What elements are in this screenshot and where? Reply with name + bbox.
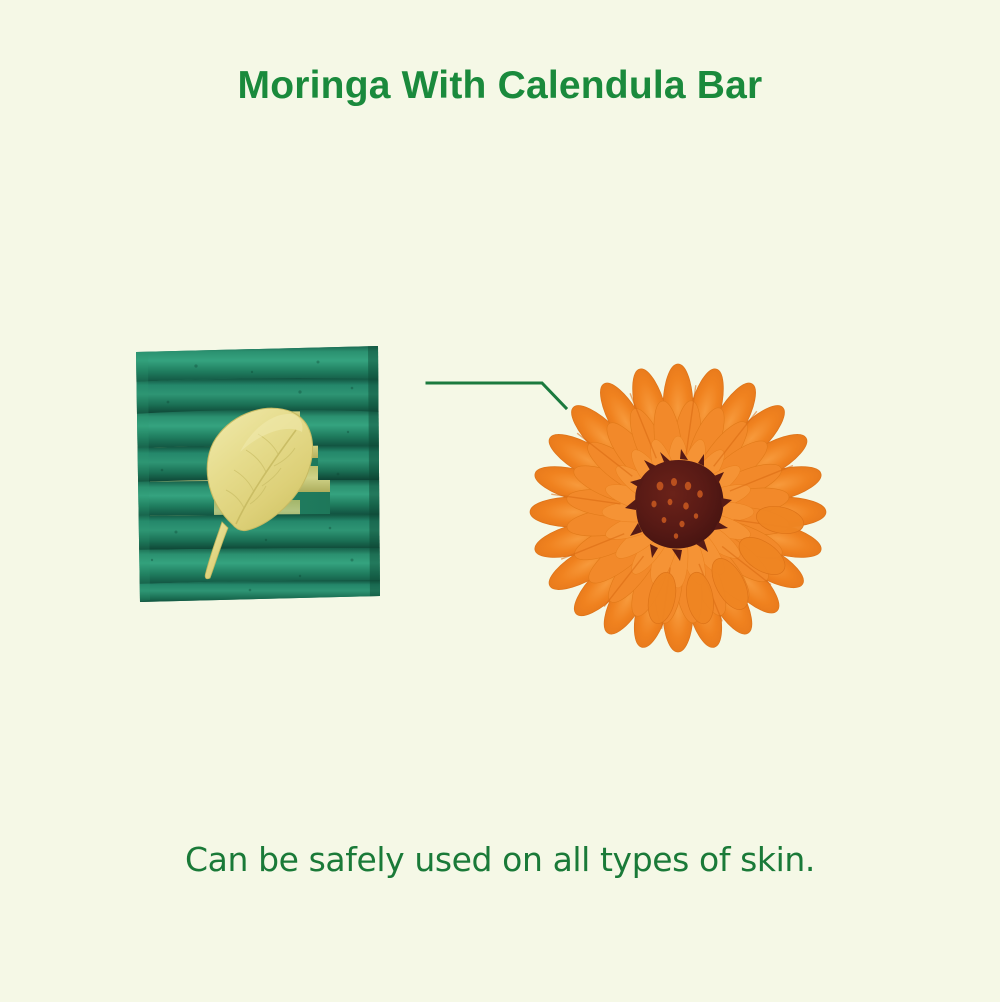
- product-caption: Can be safely used on all types of skin.: [0, 840, 1000, 879]
- page-title: Moringa With Calendula Bar: [0, 64, 1000, 108]
- calendula-flower-image[interactable]: [540, 388, 820, 640]
- product-infographic: Moringa With Calendula Bar: [0, 0, 1000, 1002]
- soap-bar-image[interactable]: [128, 340, 386, 608]
- connector-line-region: [424, 374, 574, 416]
